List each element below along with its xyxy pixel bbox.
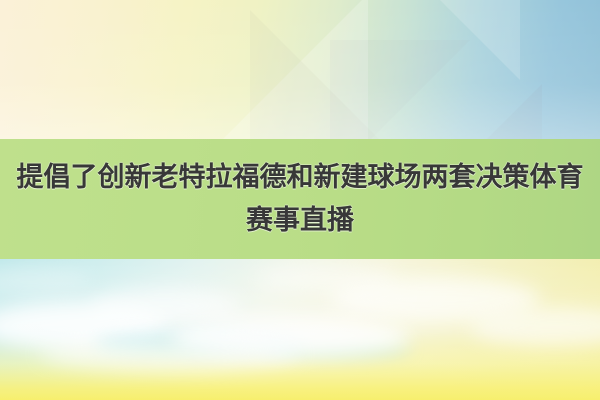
green-headline-band: 提倡了创新老特拉福德和新建球场两套决策体育赛事直播 — [0, 139, 600, 259]
top-sheen-overlay — [0, 0, 600, 140]
promo-banner: 提倡了创新老特拉福德和新建球场两套决策体育赛事直播 — [0, 0, 600, 400]
top-geometric-gradient-region — [0, 0, 600, 140]
sky-haze-overlay — [0, 259, 600, 400]
headline-text: 提倡了创新老特拉福德和新建球场两套决策体育赛事直播 — [2, 156, 598, 242]
sky-cloud-region — [0, 259, 600, 400]
